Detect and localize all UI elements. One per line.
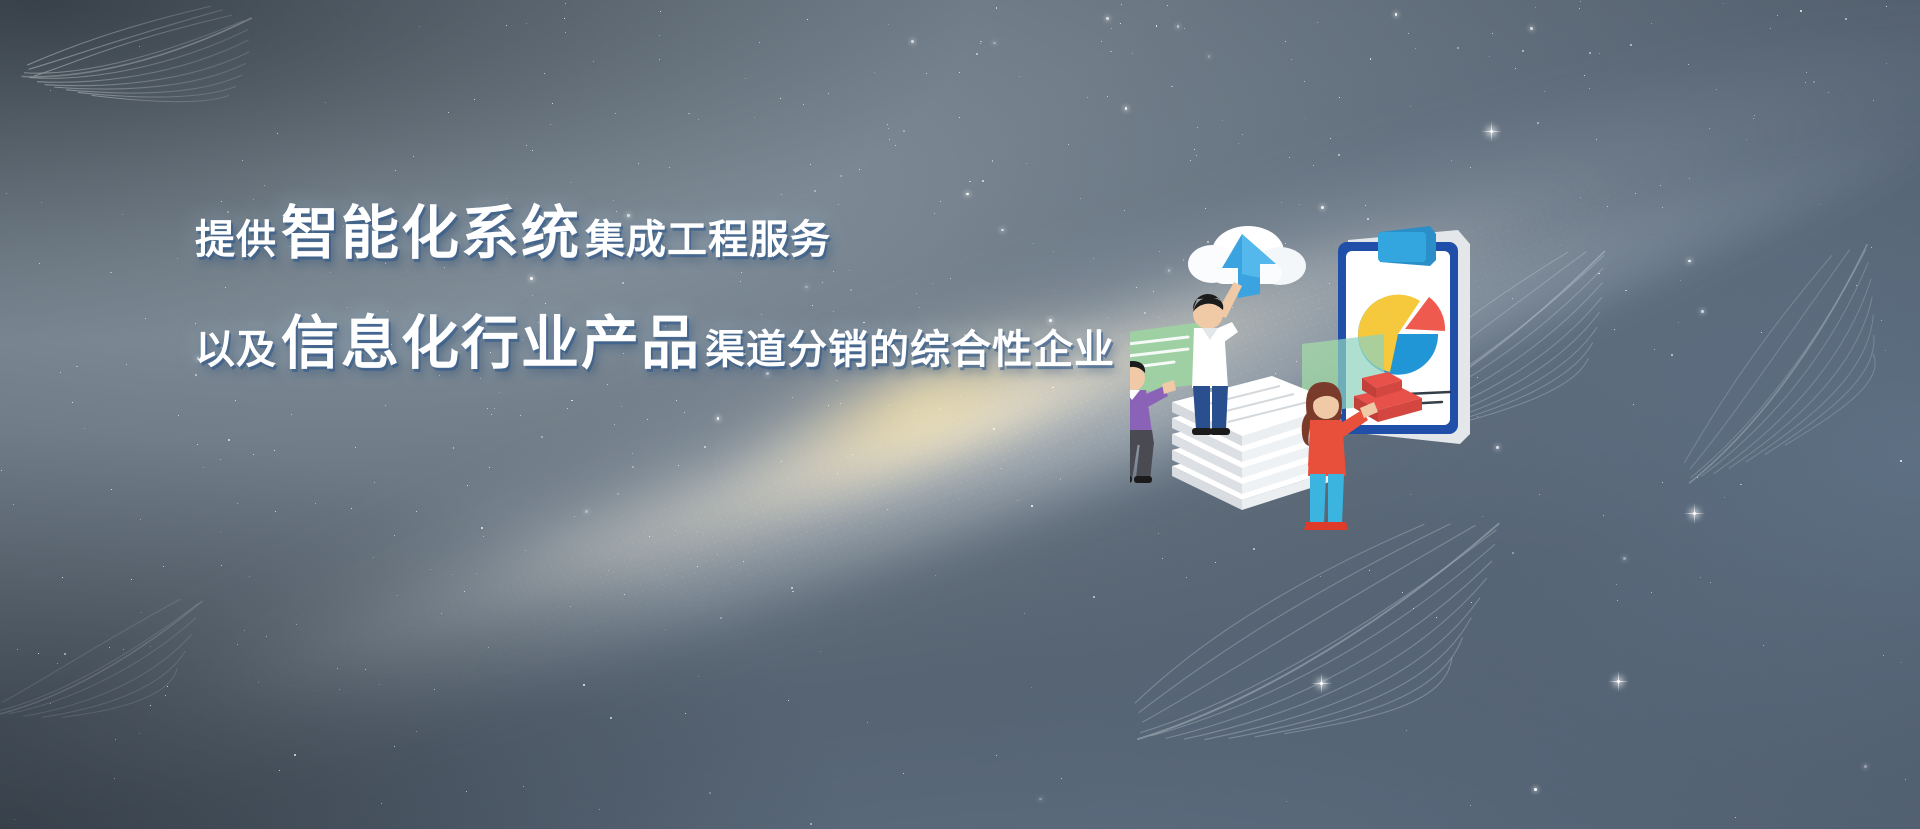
star <box>394 746 395 747</box>
star <box>1579 8 1580 9</box>
star <box>610 717 612 719</box>
star <box>448 112 449 113</box>
star <box>1873 100 1874 101</box>
star <box>523 786 524 787</box>
star <box>720 617 722 619</box>
star <box>888 128 889 129</box>
star <box>1883 655 1884 656</box>
feather-icon <box>0 589 216 731</box>
star <box>1238 143 1239 144</box>
bright-star-icon <box>1617 680 1620 683</box>
star <box>1026 163 1027 164</box>
star <box>1068 144 1069 145</box>
star <box>1723 3 1724 4</box>
star <box>1616 584 1617 585</box>
star <box>1132 53 1133 54</box>
star <box>1763 645 1764 646</box>
star <box>1515 68 1516 69</box>
star <box>976 53 978 55</box>
star <box>145 318 146 319</box>
star <box>1599 53 1600 54</box>
star <box>296 624 297 625</box>
star <box>1678 322 1679 323</box>
star <box>466 791 467 792</box>
star <box>351 508 352 509</box>
star <box>1305 118 1306 119</box>
star <box>39 263 40 264</box>
star <box>1740 484 1742 486</box>
star <box>235 400 236 401</box>
star <box>1408 33 1409 34</box>
star <box>698 119 699 120</box>
star <box>1406 730 1407 731</box>
star <box>1700 577 1701 578</box>
star <box>1031 687 1032 688</box>
star <box>887 124 888 125</box>
star <box>837 473 838 474</box>
star <box>996 7 998 9</box>
star <box>1589 52 1591 54</box>
star <box>6 193 7 194</box>
star <box>62 577 63 578</box>
star <box>599 809 600 810</box>
star <box>1339 97 1340 98</box>
star <box>373 557 374 558</box>
star <box>1019 76 1020 77</box>
star <box>1845 18 1847 20</box>
star <box>1289 157 1290 158</box>
star <box>177 258 178 259</box>
star <box>325 102 326 103</box>
star <box>1106 17 1109 20</box>
star <box>996 755 997 756</box>
star <box>532 150 533 151</box>
star <box>1194 149 1195 150</box>
star <box>394 535 395 536</box>
star <box>294 754 296 756</box>
star <box>1770 28 1771 29</box>
star <box>1080 198 1081 199</box>
star <box>1222 120 1223 121</box>
star <box>889 405 890 406</box>
headline-line-1: 提供 智能化系统 集成工程服务 <box>195 186 1075 270</box>
star <box>617 493 619 495</box>
headline-line1-part1: 提供 <box>195 207 277 265</box>
star <box>959 117 960 118</box>
star <box>220 531 221 532</box>
star <box>1660 185 1661 186</box>
star <box>13 504 14 505</box>
star <box>60 372 61 373</box>
headline-line-2: 以及 信息化行业产品 渠道分销的综合性企业 <box>195 296 1075 380</box>
star <box>488 647 489 648</box>
star <box>697 531 698 532</box>
star <box>525 550 526 551</box>
star <box>1184 28 1185 29</box>
star <box>697 566 698 567</box>
star <box>911 40 914 43</box>
star <box>1110 51 1112 53</box>
star <box>228 439 230 441</box>
star <box>1905 779 1906 780</box>
star <box>1534 788 1537 791</box>
star <box>379 684 380 685</box>
star <box>337 668 338 669</box>
star <box>1470 167 1471 168</box>
star <box>1167 5 1168 6</box>
star <box>203 467 204 468</box>
star <box>487 408 488 409</box>
star <box>704 446 706 448</box>
star <box>441 613 442 614</box>
star <box>416 731 417 732</box>
star <box>452 574 453 575</box>
star <box>659 59 660 60</box>
star <box>1299 204 1300 205</box>
star <box>570 606 571 607</box>
star <box>980 43 981 44</box>
star <box>1753 118 1754 119</box>
star <box>926 73 927 74</box>
star <box>1087 97 1088 98</box>
star <box>434 689 435 690</box>
star <box>1828 92 1829 93</box>
star <box>1061 778 1062 779</box>
star <box>1286 801 1287 802</box>
star <box>1580 197 1581 198</box>
star <box>266 636 267 637</box>
star <box>717 417 720 420</box>
star <box>1633 404 1634 405</box>
star <box>1101 41 1102 42</box>
star <box>709 792 711 794</box>
headline-line2-part1: 以及 <box>195 317 277 375</box>
star <box>960 396 961 397</box>
star <box>1205 208 1206 209</box>
star <box>570 182 571 183</box>
star <box>1330 138 1331 139</box>
star <box>859 169 860 170</box>
star <box>395 170 396 171</box>
star <box>1689 178 1690 179</box>
star <box>1321 206 1324 209</box>
star <box>178 415 179 416</box>
star <box>1171 86 1173 88</box>
star <box>969 181 971 183</box>
star <box>993 42 996 45</box>
star <box>474 99 475 100</box>
star <box>678 465 679 466</box>
star <box>791 587 793 589</box>
star <box>624 594 625 595</box>
star <box>788 700 789 701</box>
star <box>754 117 755 118</box>
star <box>820 651 821 652</box>
star <box>632 466 634 468</box>
star <box>632 453 633 454</box>
bright-star-icon <box>1693 512 1696 515</box>
star <box>526 145 527 146</box>
star <box>688 113 690 115</box>
star <box>552 103 553 104</box>
star <box>279 770 280 771</box>
star <box>550 124 551 125</box>
star <box>565 3 566 4</box>
star <box>1617 600 1618 601</box>
star <box>982 180 984 182</box>
star <box>959 72 960 73</box>
star <box>274 450 275 451</box>
star <box>567 408 568 409</box>
star <box>242 160 243 161</box>
star <box>676 400 677 401</box>
star <box>903 773 904 774</box>
star <box>649 536 650 537</box>
star <box>140 519 141 520</box>
star <box>1024 613 1025 614</box>
bright-star-icon <box>1490 130 1493 133</box>
star <box>1680 280 1681 281</box>
star <box>1196 155 1197 156</box>
star <box>1291 59 1292 60</box>
star <box>992 160 994 162</box>
star <box>1162 558 1163 559</box>
star <box>684 412 685 413</box>
star <box>491 414 492 415</box>
star <box>249 576 250 577</box>
star <box>1124 210 1125 211</box>
star <box>1701 310 1704 313</box>
star <box>365 669 366 670</box>
star <box>115 739 116 740</box>
star <box>467 485 468 486</box>
star <box>1777 15 1778 16</box>
star <box>499 392 500 393</box>
star <box>1537 122 1539 124</box>
star <box>1197 127 1198 128</box>
star <box>1120 23 1121 24</box>
star <box>803 104 804 105</box>
star <box>374 482 375 483</box>
star <box>1584 75 1585 76</box>
star <box>1735 817 1736 818</box>
star <box>1716 89 1717 90</box>
data-teamwork-illustration <box>1130 218 1600 548</box>
star <box>638 163 639 164</box>
star <box>494 408 495 409</box>
star <box>698 676 699 677</box>
star <box>1125 107 1128 110</box>
star <box>1710 582 1711 583</box>
star <box>828 405 829 406</box>
star <box>1338 154 1340 156</box>
star <box>1580 1 1581 2</box>
star <box>1530 27 1533 30</box>
star <box>1451 160 1452 161</box>
star <box>665 629 666 630</box>
star <box>541 436 543 438</box>
star <box>659 35 660 36</box>
star <box>571 400 573 402</box>
star <box>72 402 73 403</box>
star <box>139 733 140 734</box>
star <box>585 510 588 513</box>
star <box>608 570 609 571</box>
star <box>506 25 507 26</box>
star <box>520 415 521 416</box>
star <box>413 156 414 157</box>
star <box>1281 202 1282 203</box>
star <box>1900 460 1902 462</box>
star <box>315 503 316 504</box>
star <box>1864 765 1867 768</box>
star <box>1651 23 1652 24</box>
star <box>1512 552 1514 554</box>
star <box>1630 44 1632 46</box>
star <box>1017 500 1018 501</box>
star <box>1031 505 1033 507</box>
star <box>1415 48 1416 49</box>
star <box>1623 557 1626 560</box>
star <box>807 19 808 20</box>
headline-line1-emphasis: 智能化系统 <box>281 186 581 270</box>
star <box>781 461 782 462</box>
star <box>1107 96 1108 97</box>
star <box>810 823 812 825</box>
star <box>1365 205 1366 206</box>
star <box>14 819 15 820</box>
star <box>544 73 545 74</box>
star <box>852 454 853 455</box>
star <box>1901 662 1902 663</box>
star <box>1177 25 1180 28</box>
star <box>1190 160 1191 161</box>
star <box>41 202 42 203</box>
star <box>1819 204 1820 205</box>
star <box>1304 81 1305 82</box>
star <box>810 164 811 165</box>
star <box>419 26 420 27</box>
star <box>1410 106 1411 107</box>
star <box>759 42 760 43</box>
star <box>111 489 112 490</box>
star <box>1596 139 1597 140</box>
star <box>1662 482 1664 484</box>
star <box>1060 478 1062 480</box>
star <box>614 424 615 425</box>
star <box>464 591 465 592</box>
star <box>1805 82 1806 83</box>
star <box>237 644 238 645</box>
star <box>381 803 382 804</box>
star <box>385 405 386 406</box>
star <box>1313 165 1314 166</box>
star <box>221 565 222 566</box>
star <box>1111 28 1112 29</box>
star <box>1688 64 1689 65</box>
star <box>660 11 661 12</box>
star <box>483 536 484 537</box>
star <box>1121 4 1122 5</box>
star <box>874 72 875 73</box>
star <box>1156 25 1158 27</box>
star <box>76 366 78 368</box>
star <box>1457 47 1459 49</box>
star <box>675 530 676 531</box>
star <box>895 145 896 146</box>
headline-line2-emphasis: 信息化行业产品 <box>281 296 701 380</box>
star <box>840 175 842 177</box>
star <box>1093 258 1094 259</box>
star <box>1754 115 1755 116</box>
star <box>615 113 616 114</box>
star <box>745 78 746 79</box>
star <box>197 444 198 445</box>
star <box>126 364 127 365</box>
star <box>114 778 115 779</box>
star <box>717 554 718 555</box>
star <box>1589 88 1590 89</box>
star <box>1001 468 1002 469</box>
star <box>416 511 417 512</box>
star <box>1886 63 1887 64</box>
star <box>1208 55 1211 58</box>
star <box>993 428 995 430</box>
star <box>849 429 850 430</box>
star <box>237 503 238 504</box>
star <box>792 591 794 593</box>
star <box>780 98 781 99</box>
star <box>607 384 608 385</box>
star <box>1746 139 1747 140</box>
star <box>935 575 936 576</box>
star <box>828 93 829 94</box>
star <box>889 139 890 140</box>
star <box>939 408 941 410</box>
star <box>1635 193 1636 194</box>
star <box>275 511 276 512</box>
star <box>430 569 431 570</box>
star <box>476 573 477 574</box>
star <box>291 414 292 415</box>
star <box>1709 128 1710 129</box>
star <box>1886 6 1887 7</box>
star <box>220 459 221 460</box>
star <box>915 410 916 411</box>
star <box>1813 81 1815 83</box>
star <box>888 24 889 25</box>
star <box>669 167 670 168</box>
star <box>1492 33 1493 34</box>
hero-banner: 提供 智能化系统 集成工程服务 以及 信息化行业产品 渠道分销的综合性企业 <box>0 0 1920 829</box>
star <box>1489 56 1490 57</box>
star <box>1607 206 1608 207</box>
star <box>277 133 278 134</box>
star <box>1395 13 1398 16</box>
starfield <box>0 0 1920 829</box>
star <box>1285 41 1286 42</box>
star <box>1544 91 1545 92</box>
star <box>565 32 566 33</box>
star <box>1039 798 1042 801</box>
star <box>453 447 455 449</box>
star <box>1800 10 1802 12</box>
star <box>84 428 85 429</box>
star <box>131 579 132 580</box>
star <box>110 272 112 274</box>
star <box>792 397 793 398</box>
star <box>122 214 123 215</box>
